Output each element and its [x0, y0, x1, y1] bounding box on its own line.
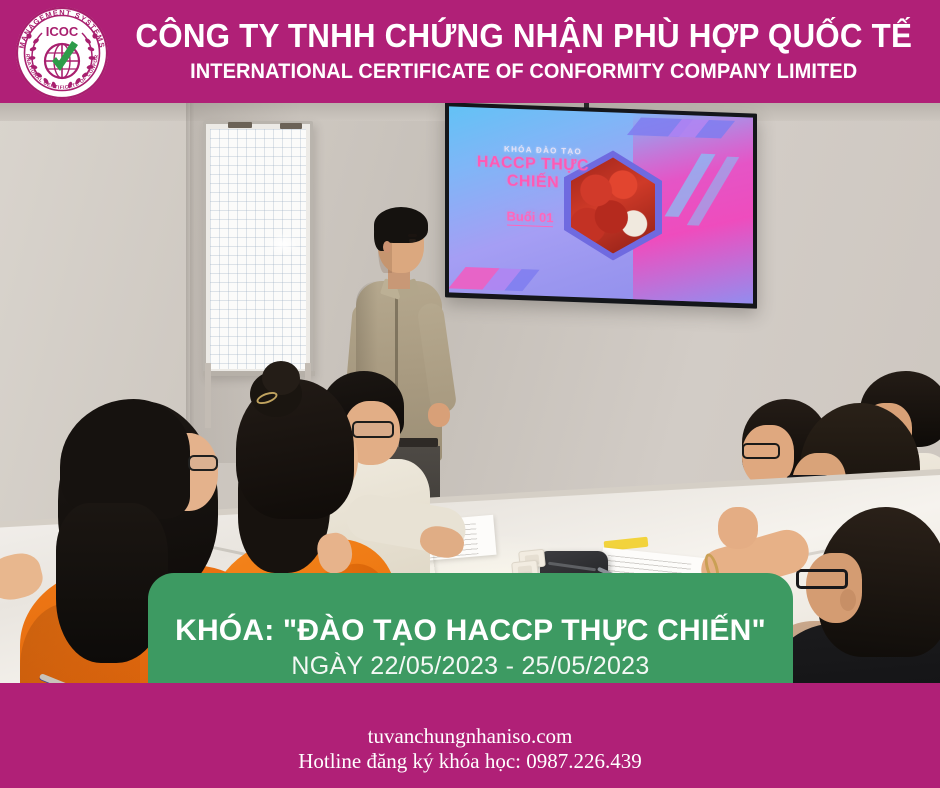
poster-root: MANAGEMENT SYSTEMS INTERNATIONAL CERTIFI… — [0, 0, 940, 788]
course-dates: NGÀY 22/05/2023 - 25/05/2023 — [291, 651, 649, 681]
presenter-eyebrow — [408, 234, 417, 237]
slide-title: HACCP THỰC CHIẾN — [453, 153, 613, 195]
company-name-vn: CÔNG TY TNHH CHỨNG NHẬN PHÙ HỢP QUỐC TẾ — [136, 18, 913, 54]
course-title: KHÓA: "ĐÀO TẠO HACCP THỰC CHIẾN" — [175, 614, 766, 648]
logo-acronym: ICOC — [46, 24, 79, 39]
flipchart-clip — [228, 122, 252, 128]
attendee-glasses — [742, 443, 780, 459]
company-logo: MANAGEMENT SYSTEMS INTERNATIONAL CERTIFI… — [12, 3, 112, 101]
flipchart-clip — [280, 123, 302, 129]
page-footer: tuvanchungnhaniso.com Hotline đăng ký kh… — [0, 683, 940, 788]
presenter-hand — [428, 403, 450, 427]
attendee-hair-bun — [262, 361, 300, 395]
page-header: MANAGEMENT SYSTEMS INTERNATIONAL CERTIFI… — [0, 0, 940, 103]
company-name-en: INTERNATIONAL CERTIFICATE OF CONFORMITY … — [190, 59, 857, 85]
attendee-hand — [718, 507, 758, 549]
flipchart-glare — [268, 233, 298, 255]
website-text[interactable]: tuvanchungnhaniso.com — [368, 724, 573, 749]
flipchart-leg — [205, 363, 211, 428]
slide-session: Buổi 01 — [477, 207, 583, 226]
hotline-text: Hotline đăng ký khóa học: 0987.226.439 — [298, 749, 642, 775]
presenter-ear — [383, 241, 391, 253]
slide-session-label: Buổi 01 — [507, 209, 554, 228]
attendee-glasses — [188, 455, 218, 471]
presenter-eye — [409, 239, 416, 242]
projection-screen: KHÓA ĐÀO TẠO HACCP THỰC CHIẾN Buổi 01 — [449, 106, 753, 303]
header-text-block: CÔNG TY TNHH CHỨNG NHẬN PHÙ HỢP QUỐC TẾ … — [118, 0, 930, 103]
attendee-glasses — [796, 569, 848, 589]
attendee-ear — [840, 589, 856, 611]
attendee-glasses — [352, 421, 394, 438]
